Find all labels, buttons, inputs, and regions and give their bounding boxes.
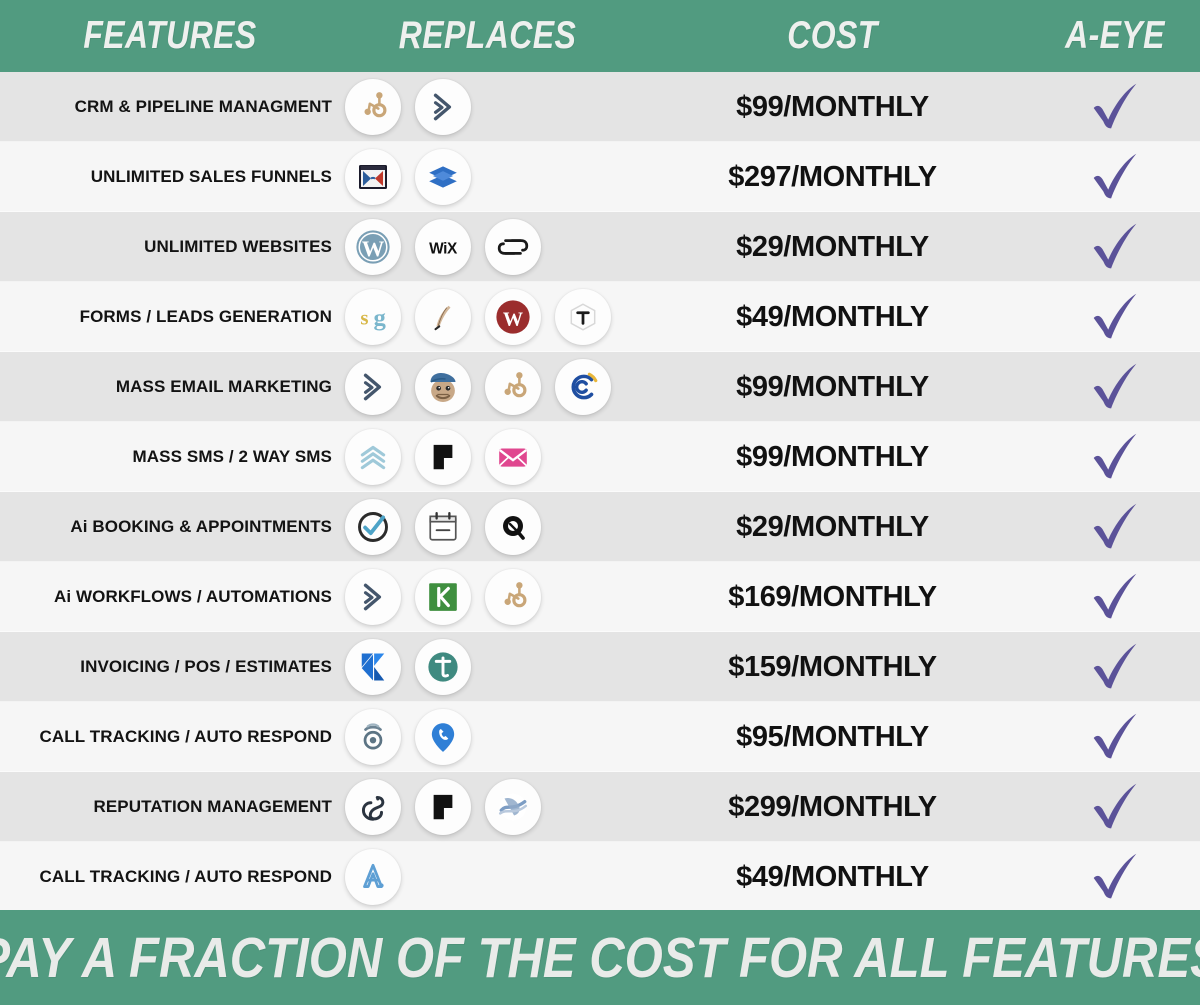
feature-label: Ai WORKFLOWS / AUTOMATIONS	[54, 587, 332, 607]
kartra-icon	[415, 569, 471, 625]
replaces-cell	[345, 422, 635, 492]
hubspot-icon	[485, 569, 541, 625]
svg-text:W: W	[503, 308, 523, 330]
column-header-cost: COST	[671, 0, 995, 72]
cost-cell: $29/MONTHLY	[635, 212, 1030, 282]
column-header-features: FEATURES	[31, 0, 310, 72]
pipedrive-icon	[345, 359, 401, 415]
quill-icon	[415, 289, 471, 345]
checkmark-glyph	[1084, 566, 1146, 628]
included-cell	[1030, 422, 1200, 492]
included-cell	[1030, 562, 1200, 632]
wix-icon: WiX	[415, 219, 471, 275]
cost-cell: $29/MONTHLY	[635, 492, 1030, 562]
birdeye-icon	[345, 779, 401, 835]
feature-label: CALL TRACKING / AUTO RESPOND	[40, 867, 332, 887]
table-row: MASS EMAIL MARKETING $99/MONTHLY	[0, 352, 1200, 422]
included-cell	[1030, 72, 1200, 142]
surveygizmo-icon: sg	[345, 289, 401, 345]
checkmark-glyph	[1084, 216, 1146, 278]
table-row: CRM & PIPELINE MANAGMENT $99/MONTHLY	[0, 72, 1200, 142]
replaces-cell	[345, 702, 635, 772]
included-cell	[1030, 282, 1200, 352]
table-row: Ai WORKFLOWS / AUTOMATIONS $169/MONTHLY	[0, 562, 1200, 632]
column-header-aeye-label: A-EYE	[1065, 14, 1165, 58]
checkmark-glyph	[1084, 776, 1146, 838]
checkmark-glyph	[1084, 76, 1146, 138]
included-cell	[1030, 492, 1200, 562]
cost-label: $49/MONTHLY	[736, 301, 929, 334]
cost-label: $99/MONTHLY	[736, 91, 929, 124]
table-body: CRM & PIPELINE MANAGMENT $99/MONTHLY UNL…	[0, 72, 1200, 910]
hubspot-icon	[485, 359, 541, 415]
cost-cell: $99/MONTHLY	[635, 352, 1030, 422]
feature-cell: MASS SMS / 2 WAY SMS	[0, 422, 340, 492]
cost-label: $299/MONTHLY	[728, 791, 936, 824]
feature-cell: UNLIMITED WEBSITES	[0, 212, 340, 282]
svg-text:W: W	[362, 236, 385, 261]
cost-cell: $297/MONTHLY	[635, 142, 1030, 212]
table-row: REPUTATION MANAGEMENT $299/MONTHLY	[0, 772, 1200, 842]
feature-label: UNLIMITED WEBSITES	[144, 237, 332, 257]
replaces-cell	[345, 492, 635, 562]
table-row: INVOICING / POS / ESTIMATES $159/MONTHLY	[0, 632, 1200, 702]
clickfunnels-icon	[345, 149, 401, 205]
podium-icon	[415, 429, 471, 485]
replaces-cell	[345, 352, 635, 422]
column-header-replaces-label: REPLACES	[399, 14, 576, 58]
acuity-calendar-icon	[415, 499, 471, 555]
feature-cell: CALL TRACKING / AUTO RESPOND	[0, 702, 340, 772]
cost-label: $49/MONTHLY	[736, 861, 929, 894]
cost-cell: $299/MONTHLY	[635, 772, 1030, 842]
cost-cell: $159/MONTHLY	[635, 632, 1030, 702]
mailchimp-icon	[415, 359, 471, 415]
cost-cell: $169/MONTHLY	[635, 562, 1030, 632]
included-cell	[1030, 772, 1200, 842]
podium-icon	[415, 779, 471, 835]
tide-icon	[415, 639, 471, 695]
svg-text:g: g	[373, 305, 386, 332]
callpin-icon	[415, 709, 471, 765]
feature-label: CALL TRACKING / AUTO RESPOND	[40, 727, 332, 747]
checkmark-glyph	[1084, 496, 1146, 558]
feature-cell: FORMS / LEADS GENERATION	[0, 282, 340, 352]
replaces-cell: sgW	[345, 282, 635, 352]
feature-label: Ai BOOKING & APPOINTMENTS	[70, 517, 332, 537]
typeform-icon	[555, 289, 611, 345]
feature-label: UNLIMITED SALES FUNNELS	[91, 167, 332, 187]
checkmark-glyph	[1084, 356, 1146, 418]
checkmark-glyph	[1084, 286, 1146, 348]
cost-label: $169/MONTHLY	[728, 581, 936, 614]
squarespace-icon	[485, 219, 541, 275]
column-header-features-label: FEATURES	[83, 14, 256, 58]
chevrons-icon	[345, 429, 401, 485]
feature-label: MASS SMS / 2 WAY SMS	[133, 447, 332, 467]
included-cell	[1030, 352, 1200, 422]
svg-text:s: s	[360, 306, 368, 330]
feature-cell: REPUTATION MANAGEMENT	[0, 772, 340, 842]
feature-label: INVOICING / POS / ESTIMATES	[80, 657, 332, 677]
cost-label: $29/MONTHLY	[736, 231, 929, 264]
kajabi-icon	[415, 149, 471, 205]
svg-text:WiX: WiX	[429, 240, 458, 257]
wufoo-icon: W	[485, 289, 541, 345]
footer-banner: PAY A FRACTION OF THE COST FOR ALL FEATU…	[0, 910, 1200, 1005]
kashoo-icon	[345, 639, 401, 695]
included-cell	[1030, 842, 1200, 912]
checkmark-glyph	[1084, 636, 1146, 698]
cost-label: $95/MONTHLY	[736, 721, 929, 754]
cost-cell: $49/MONTHLY	[635, 282, 1030, 352]
salesmsg-icon	[485, 429, 541, 485]
feature-cell: CALL TRACKING / AUTO RESPOND	[0, 842, 340, 912]
feature-cell: MASS EMAIL MARKETING	[0, 352, 340, 422]
feature-label: CRM & PIPELINE MANAGMENT	[75, 97, 332, 117]
feature-cell: INVOICING / POS / ESTIMATES	[0, 632, 340, 702]
included-cell	[1030, 212, 1200, 282]
column-header-cost-label: COST	[787, 14, 877, 58]
pricing-comparison-table: FEATURES REPLACES COST A-EYE CRM & PIPEL…	[0, 0, 1200, 1005]
callrail-icon	[345, 709, 401, 765]
feature-cell: Ai BOOKING & APPOINTMENTS	[0, 492, 340, 562]
calendly-icon	[345, 499, 401, 555]
table-header-row: FEATURES REPLACES COST A-EYE	[0, 0, 1200, 72]
feature-cell: UNLIMITED SALES FUNNELS	[0, 142, 340, 212]
replaces-cell	[345, 72, 635, 142]
included-cell	[1030, 632, 1200, 702]
table-row: CALL TRACKING / AUTO RESPOND $95/MONTHLY	[0, 702, 1200, 772]
replaces-cell	[345, 772, 635, 842]
cost-label: $99/MONTHLY	[736, 371, 929, 404]
cost-label: $159/MONTHLY	[728, 651, 936, 684]
reviewwave-icon	[485, 779, 541, 835]
feature-label: FORMS / LEADS GENERATION	[80, 307, 332, 327]
replaces-cell: WWiX	[345, 212, 635, 282]
included-cell	[1030, 702, 1200, 772]
pipedrive-icon	[345, 569, 401, 625]
wordpress-icon: W	[345, 219, 401, 275]
cost-cell: $95/MONTHLY	[635, 702, 1030, 772]
oncehub-icon	[485, 499, 541, 555]
table-row: UNLIMITED WEBSITES WWiX $29/MONTHLY	[0, 212, 1200, 282]
table-row: Ai BOOKING & APPOINTMENTS $29/MONTHLY	[0, 492, 1200, 562]
table-row: CALL TRACKING / AUTO RESPOND $49/MONTHLY	[0, 842, 1200, 912]
table-row: MASS SMS / 2 WAY SMS $99/MONTHLY	[0, 422, 1200, 492]
included-cell	[1030, 142, 1200, 212]
cost-cell: $49/MONTHLY	[635, 842, 1030, 912]
feature-label: MASS EMAIL MARKETING	[116, 377, 332, 397]
hubspot-icon	[345, 79, 401, 135]
replaces-cell	[345, 142, 635, 212]
checkmark-glyph	[1084, 706, 1146, 768]
cost-cell: $99/MONTHLY	[635, 422, 1030, 492]
checkmark-glyph	[1084, 146, 1146, 208]
replaces-cell	[345, 562, 635, 632]
cost-label: $297/MONTHLY	[728, 161, 936, 194]
activecampaign-icon	[555, 359, 611, 415]
feature-label: REPUTATION MANAGEMENT	[93, 797, 332, 817]
column-header-replaces: REPLACES	[367, 0, 609, 72]
cost-label: $29/MONTHLY	[736, 511, 929, 544]
feature-cell: Ai WORKFLOWS / AUTOMATIONS	[0, 562, 340, 632]
checkmark-glyph	[1084, 426, 1146, 488]
footer-banner-text: PAY A FRACTION OF THE COST FOR ALL FEATU…	[0, 925, 1200, 991]
aircall-icon	[345, 849, 401, 905]
column-header-aeye: A-EYE	[1045, 0, 1184, 72]
table-row: FORMS / LEADS GENERATION sgW $49/MONTHLY	[0, 282, 1200, 352]
pipedrive-icon	[415, 79, 471, 135]
checkmark-glyph	[1084, 846, 1146, 908]
table-row: UNLIMITED SALES FUNNELS $297/MONTHLY	[0, 142, 1200, 212]
cost-label: $99/MONTHLY	[736, 441, 929, 474]
replaces-cell	[345, 632, 635, 702]
feature-cell: CRM & PIPELINE MANAGMENT	[0, 72, 340, 142]
cost-cell: $99/MONTHLY	[635, 72, 1030, 142]
replaces-cell	[345, 842, 635, 912]
